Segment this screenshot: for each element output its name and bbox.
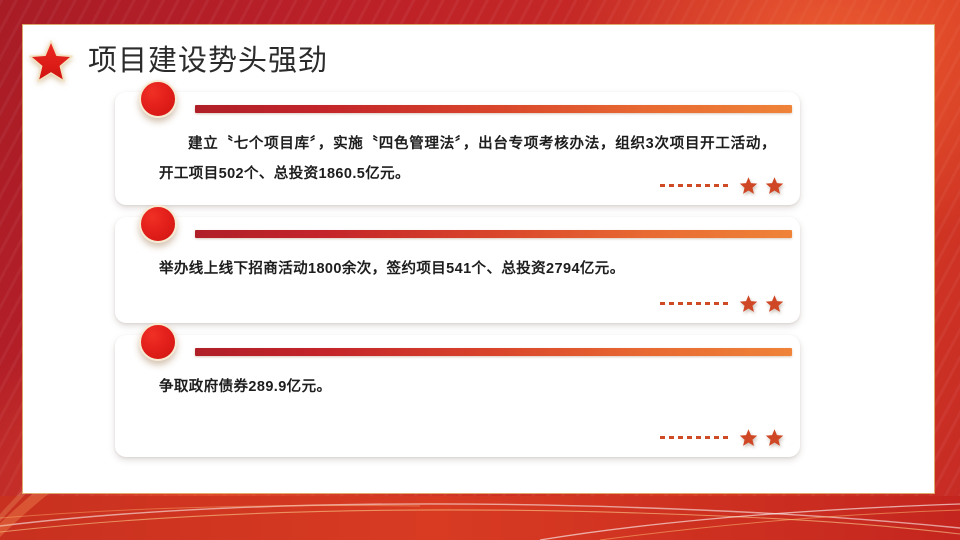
card-body: 争取政府债券289.9亿元。 [159, 373, 776, 403]
card-accent-bar [195, 230, 792, 238]
dash-dot-line-icon [660, 184, 732, 187]
content-card[interactable]: 建立〝七个项目库〞，实施〝四色管理法〞，出台专项考核办法，组织3次项目开工活动，… [115, 92, 800, 205]
card-decoration [660, 428, 784, 447]
cards-container: 建立〝七个项目库〞，实施〝四色管理法〞，出台专项考核办法，组织3次项目开工活动，… [115, 92, 815, 469]
star-icon [765, 176, 784, 195]
card-accent-bar [195, 348, 792, 356]
dash-dot-line-icon [660, 302, 732, 305]
red-circle-bullet-icon [139, 80, 177, 118]
star-icon [28, 38, 74, 84]
page-header: 项目建设势头强劲 [28, 38, 328, 84]
star-icon [739, 176, 758, 195]
star-icon [765, 428, 784, 447]
red-circle-bullet-icon [139, 205, 177, 243]
content-card[interactable]: 争取政府债券289.9亿元。 [115, 335, 800, 457]
content-card[interactable]: 举办线上线下招商活动1800余次，签约项目541个、总投资2794亿元。 [115, 217, 800, 323]
card-body: 举办线上线下招商活动1800余次，签约项目541个、总投资2794亿元。 [159, 255, 776, 285]
dash-dot-line-icon [660, 436, 732, 439]
star-icon [739, 294, 758, 313]
card-text: 争取政府债券289.9亿元。 [159, 373, 776, 403]
red-circle-bullet-icon [139, 323, 177, 361]
slide-root: 项目建设势头强劲 建立〝七个项目库〞，实施〝四色管理法〞，出台专项考核办法，组织… [0, 0, 960, 540]
card-text: 举办线上线下招商活动1800余次，签约项目541个、总投资2794亿元。 [159, 255, 776, 285]
card-decoration [660, 294, 784, 313]
star-icon [739, 428, 758, 447]
card-accent-bar [195, 105, 792, 113]
card-decoration [660, 176, 784, 195]
star-icon [765, 294, 784, 313]
page-title: 项目建设势头强劲 [88, 47, 328, 76]
